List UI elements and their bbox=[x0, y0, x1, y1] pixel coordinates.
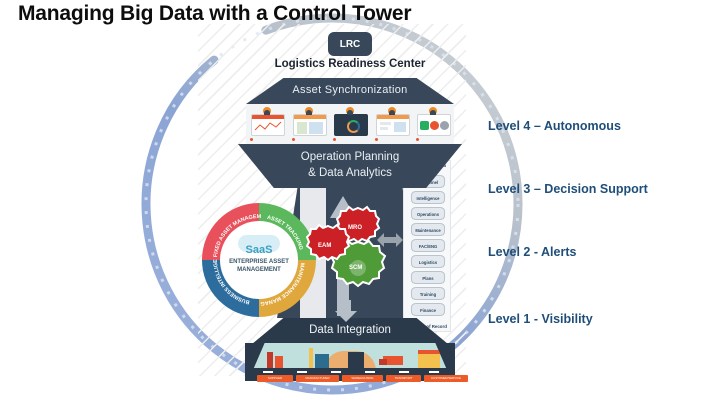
dashboard-card[interactable] bbox=[373, 107, 411, 141]
gear-label-eam: EAM bbox=[318, 243, 331, 249]
supply-chain-scene: SUPPLIER MANUFACTURER WAREHOUSING TRANSP… bbox=[245, 343, 455, 381]
eam-line1: ENTERPRISE ASSET bbox=[229, 259, 289, 265]
sc-stage-customer: CUSTOMER/SERVICE bbox=[424, 375, 468, 382]
donut-center-title: SaaS bbox=[246, 244, 273, 256]
dashboard-card[interactable] bbox=[290, 107, 328, 141]
level-label-3: Level 3 – Decision Support bbox=[488, 182, 648, 196]
db-finance[interactable]: Finance bbox=[411, 303, 445, 316]
dashboard-card[interactable] bbox=[248, 107, 286, 141]
lrc-badge: LRC bbox=[328, 32, 372, 56]
data-integration-label: Data Integration bbox=[252, 324, 448, 336]
donut-center-subtitle: ENTERPRISE ASSET MANAGEMENT bbox=[229, 258, 289, 274]
dashboard-strip bbox=[246, 104, 454, 144]
warehouse-icon bbox=[348, 352, 364, 368]
level-label-4: Level 4 – Autonomous bbox=[488, 119, 621, 133]
op-line2: & Data Analytics bbox=[308, 167, 392, 179]
op-line1: Operation Planning bbox=[301, 151, 399, 163]
mobile-dashboard-card[interactable] bbox=[331, 107, 369, 141]
db-plans[interactable]: Plans bbox=[411, 271, 445, 284]
db-fac-eng[interactable]: FAC/ENG bbox=[411, 239, 445, 252]
sc-stage-transport: TRANSPORT bbox=[386, 375, 421, 382]
db-logistics[interactable]: Logistics bbox=[411, 255, 445, 268]
lrc-label: Logistics Readiness Center bbox=[270, 58, 430, 70]
open-data-interfaces-card[interactable] bbox=[414, 107, 452, 141]
sc-stage-warehousing: WAREHOUSING bbox=[342, 375, 383, 382]
store-icon bbox=[418, 353, 440, 368]
db-intelligence[interactable]: Intelligence bbox=[411, 191, 445, 204]
operation-planning-label: Operation Planning & Data Analytics bbox=[238, 149, 462, 181]
sc-stage-manufacturer: MANUFACTURER bbox=[296, 375, 339, 382]
operation-planning-band: Operation Planning & Data Analytics bbox=[238, 144, 462, 188]
db-maintenance[interactable]: Maintenance bbox=[411, 223, 445, 236]
donut-center: SaaS ENTERPRISE ASSET MANAGEMENT bbox=[220, 221, 298, 299]
eam-line2: MANAGEMENT bbox=[237, 267, 281, 273]
gear-label-scm: SCM bbox=[349, 265, 362, 271]
db-training[interactable]: Training bbox=[411, 287, 445, 300]
sc-stage-supplier: SUPPLIER bbox=[257, 375, 293, 382]
factory-icon bbox=[309, 348, 313, 368]
downward-flow-arrow-icon bbox=[335, 300, 357, 322]
slide-canvas: Managing Big Data with a Control Tower L… bbox=[0, 0, 702, 401]
level-label-2: Level 2 - Alerts bbox=[488, 245, 576, 259]
road bbox=[253, 368, 447, 375]
gears-group bbox=[306, 198, 392, 302]
db-operations[interactable]: Operations bbox=[411, 207, 445, 220]
page-title: Managing Big Data with a Control Tower bbox=[18, 2, 411, 26]
supplier-icon bbox=[267, 352, 273, 368]
scene-sky bbox=[253, 343, 447, 370]
level-label-1: Level 1 - Visibility bbox=[488, 312, 593, 326]
gear-label-mro: MRO bbox=[348, 225, 362, 231]
asset-synchronization-label: Asset Synchronization bbox=[246, 84, 454, 96]
